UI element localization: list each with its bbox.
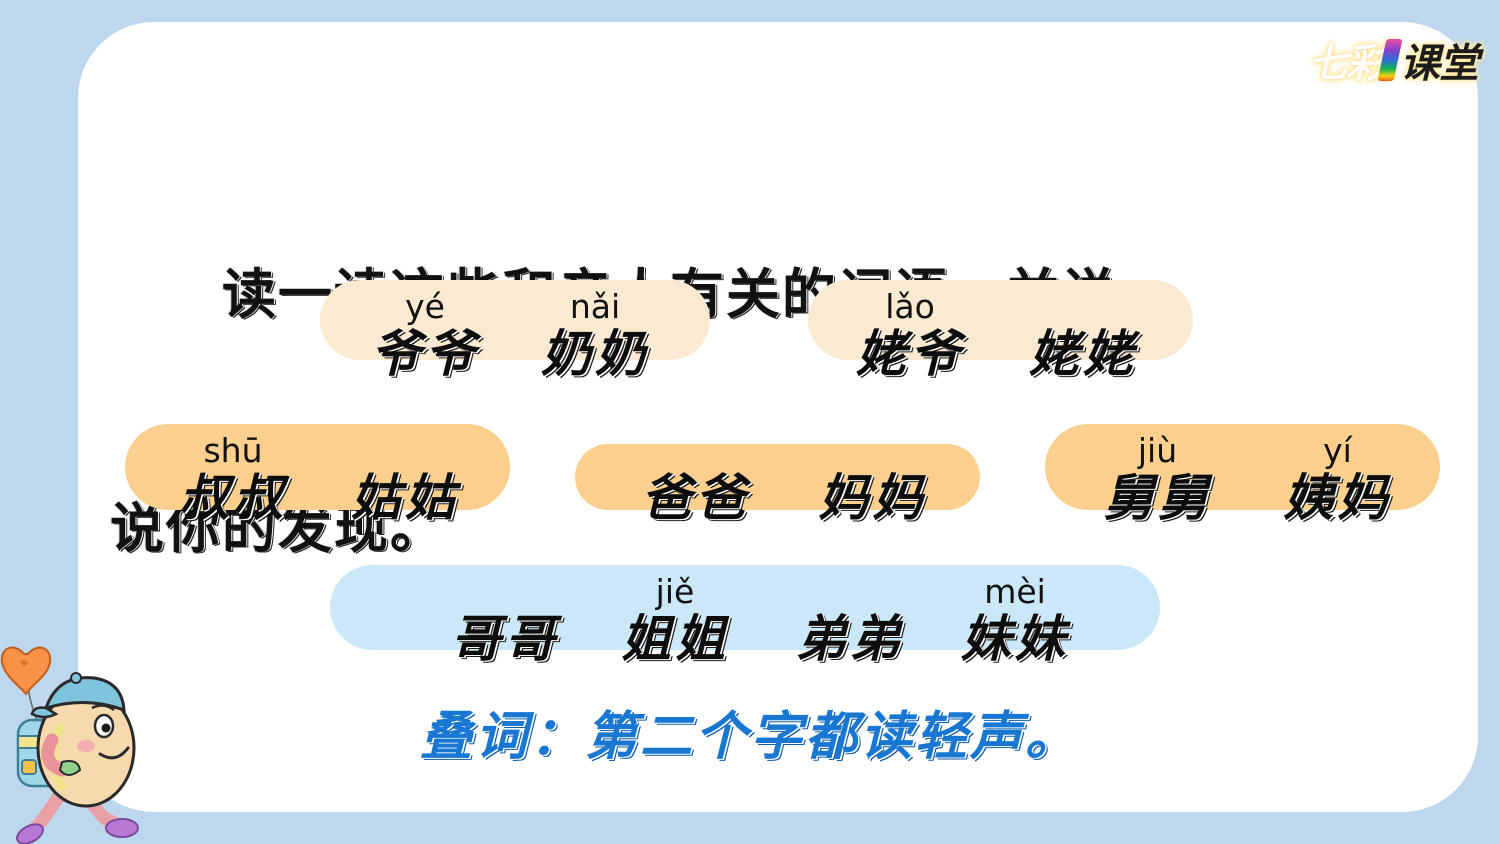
hanzi-word: 舅舅 [1075,470,1240,526]
hanzi-word: 弟弟 [770,611,930,667]
word-pill-siblings: 哥哥 jiě 姐姐 弟弟 mèi 妹妹 [330,565,1160,650]
pinyin-label: yí [1255,434,1420,470]
hanzi-word: 哥哥 [425,611,585,667]
teaching-note: 叠词：第二个字都读轻声。 [0,694,1500,769]
word-item: yí 姨妈 [1255,434,1420,526]
hanzi-word: 叔叔 [153,470,313,526]
hanzi-word: 姨妈 [1255,470,1420,526]
pinyin-label: yé [350,290,500,326]
word-item: 姑姑 [325,434,485,526]
word-item: nǎi 奶奶 [520,290,670,382]
hanzi-word: 姑姑 [325,470,485,526]
mascot-cheek [77,740,95,752]
word-item: mèi 妹妹 [935,575,1095,667]
hanzi-word: 爸爸 [613,470,778,526]
brand-logo-colored-text: 七彩 [1308,31,1386,89]
word-pill-uncle-aunt-paternal: shū 叔叔 姑姑 [125,424,510,510]
hanzi-word: 爷爷 [350,326,500,382]
pinyin-label: mèi [935,575,1095,611]
heart-balloon-icon [2,648,50,694]
word-item: 爸爸 [613,434,778,526]
word-pill-uncle-aunt-maternal: jiù 舅舅 yí 姨妈 [1045,424,1440,510]
word-pill-parents: 爸爸 妈妈 [575,444,980,510]
word-pill-grandparents-maternal: lǎo 姥爷 姥姥 [808,280,1193,360]
cap-button [71,673,81,683]
hanzi-word: 奶奶 [520,326,670,382]
word-item: 弟弟 [770,575,930,667]
word-pill-grandparents-paternal: yé 爷爷 nǎi 奶奶 [320,280,710,360]
mascot-hand [60,761,80,775]
pinyin-label: shū [153,434,313,470]
word-item: jiù 舅舅 [1075,434,1240,526]
word-item: 妈妈 [790,434,955,526]
slide-canvas: 七彩 课堂 读一读这些和亲人有关的词语，并说 说你的发现。 yé 爷爷 nǎi … [0,0,1500,844]
mascot-pupil [102,724,111,733]
hanzi-word: 妈妈 [790,470,955,526]
pinyin-label: lǎo [830,290,990,326]
hanzi-word: 姥姥 [1003,326,1163,382]
word-item: lǎo 姥爷 [830,290,990,382]
hanzi-word: 姐姐 [595,611,755,667]
mascot-egg-boy [0,636,160,844]
backpack-buckle [22,760,36,774]
prompt-line-1: 读一读这些和亲人有关的词语，并说 [110,256,1390,334]
pinyin-label: nǎi [520,290,670,326]
word-item: yé 爷爷 [350,290,500,382]
mascot-shoe-front [106,819,138,837]
pinyin-label: jiě [595,575,755,611]
brand-logo-black-text: 课堂 [1400,31,1478,89]
hanzi-word: 妹妹 [935,611,1095,667]
word-item: jiě 姐姐 [595,575,755,667]
brand-logo: 七彩 课堂 [1308,32,1478,88]
word-item: shū 叔叔 [153,434,313,526]
word-item: 哥哥 [425,575,585,667]
pinyin-label: jiù [1075,434,1240,470]
word-item: 姥姥 [1003,290,1163,382]
hanzi-word: 姥爷 [830,326,990,382]
